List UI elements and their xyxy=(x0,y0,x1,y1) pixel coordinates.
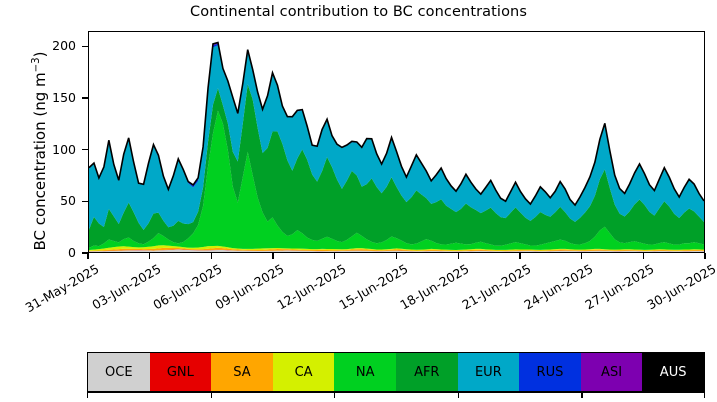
plot-area xyxy=(88,31,705,253)
x-tick-mark xyxy=(519,253,520,259)
legend-item-oce[interactable]: OCE xyxy=(88,353,150,391)
legend-axis xyxy=(87,392,705,402)
stacked-area-svg xyxy=(89,32,704,252)
y-tick-label: 150 xyxy=(36,90,76,105)
y-tick-label: 0 xyxy=(36,245,76,260)
legend-tick-mark xyxy=(704,392,705,398)
legend-tick-mark xyxy=(458,392,459,398)
legend-tick-mark xyxy=(211,392,212,398)
x-tick-mark xyxy=(334,253,335,259)
x-tick-mark xyxy=(396,253,397,259)
legend-item-sa[interactable]: SA xyxy=(211,353,273,391)
legend-item-eur[interactable]: EUR xyxy=(458,353,520,391)
x-tick-label: 09-Jun-2025 xyxy=(175,261,286,334)
x-tick-label: 18-Jun-2025 xyxy=(360,261,471,334)
x-tick-label: 31-May-2025 xyxy=(0,261,102,334)
y-tick-label: 50 xyxy=(36,193,76,208)
x-tick-label: 15-Jun-2025 xyxy=(299,261,410,334)
x-tick-mark xyxy=(211,253,212,259)
x-tick-mark xyxy=(581,253,582,259)
x-tick-mark xyxy=(643,253,644,259)
x-tick-mark xyxy=(272,253,273,259)
legend-item-afr[interactable]: AFR xyxy=(396,353,458,391)
x-tick-label: 03-Jun-2025 xyxy=(52,261,163,334)
chart-root: Continental contribution to BC concentra… xyxy=(0,0,717,402)
x-tick-label: 24-Jun-2025 xyxy=(484,261,595,334)
legend: OCEGNLSACANAAFREURRUSASIAUS xyxy=(87,352,705,392)
x-tick-label: 27-Jun-2025 xyxy=(545,261,656,334)
legend-item-rus[interactable]: RUS xyxy=(519,353,581,391)
y-axis-label-exponent: −3 xyxy=(31,57,42,72)
legend-tick-mark xyxy=(581,392,582,398)
legend-item-ca[interactable]: CA xyxy=(273,353,335,391)
chart-title: Continental contribution to BC concentra… xyxy=(0,4,717,20)
legend-item-na[interactable]: NA xyxy=(334,353,396,391)
legend-axis-line xyxy=(87,392,705,393)
legend-tick-mark xyxy=(334,392,335,398)
x-tick-mark xyxy=(458,253,459,259)
legend-item-gnl[interactable]: GNL xyxy=(150,353,212,391)
x-tick-label: 30-Jun-2025 xyxy=(607,261,717,334)
legend-item-aus[interactable]: AUS xyxy=(642,353,704,391)
y-tick-label: 200 xyxy=(36,38,76,53)
x-tick-label: 06-Jun-2025 xyxy=(113,261,224,334)
x-tick-mark xyxy=(87,253,88,259)
x-tick-mark xyxy=(149,253,150,259)
x-tick-mark xyxy=(704,253,705,259)
legend-tick-mark xyxy=(87,392,88,398)
legend-item-asi[interactable]: ASI xyxy=(581,353,643,391)
y-tick-label: 100 xyxy=(36,142,76,157)
x-tick-label: 21-Jun-2025 xyxy=(422,261,533,334)
x-tick-label: 12-Jun-2025 xyxy=(237,261,348,334)
